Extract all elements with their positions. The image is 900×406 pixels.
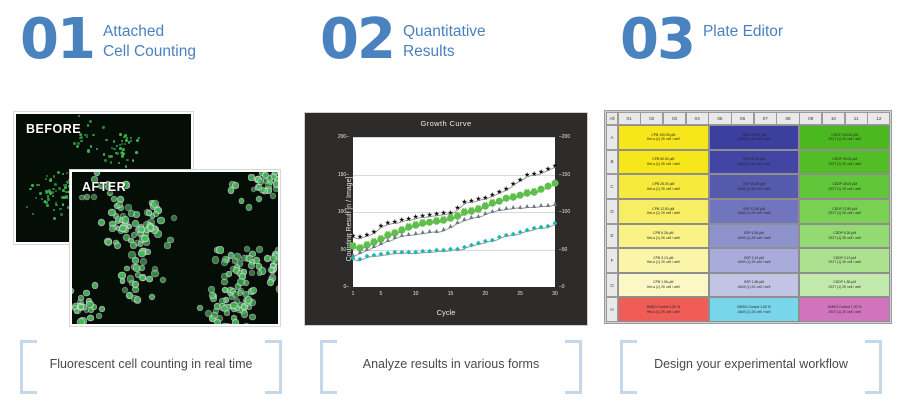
cell-dot	[258, 271, 262, 275]
cell-dot	[129, 211, 134, 216]
plate-row-header-A[interactable]: A	[606, 125, 618, 150]
cell-dot	[132, 160, 134, 162]
panel-1-caption-text: Fluorescent cell counting in real time	[32, 357, 271, 371]
cell-dot	[31, 184, 34, 187]
plate-row-header-D[interactable]: D	[606, 199, 618, 224]
well-cell-label: 293T (1) 2K cell / well	[828, 187, 861, 192]
cell-dot	[73, 142, 76, 145]
plate-row-header-B[interactable]: B	[606, 150, 618, 175]
panel-1-header: 01 Attached Cell Counting	[20, 14, 196, 66]
cell-dot	[222, 260, 228, 266]
plate-column-headers: All010203040506070809101112	[606, 112, 890, 125]
before-label: BEFORE	[26, 122, 81, 136]
cell-dot	[245, 247, 249, 251]
plate-well-group[interactable]: CDDP 100.00 µM293T (1) 2K cell / well	[799, 125, 890, 150]
cell-dot	[66, 172, 68, 174]
cell-dot	[198, 306, 202, 310]
cell-dot	[53, 217, 56, 220]
cell-dot	[233, 292, 239, 298]
cell-dot	[274, 181, 279, 186]
cell-dot	[128, 225, 132, 229]
cell-dot	[129, 239, 133, 243]
cell-dot	[130, 140, 132, 142]
cell-dot	[121, 143, 123, 145]
cell-dot	[235, 299, 239, 303]
cell-dot	[45, 178, 47, 180]
cell-dot	[102, 126, 105, 129]
panel-2-title: Quantitative Results	[403, 22, 486, 62]
cell-dot	[115, 243, 120, 248]
cell-dot	[62, 173, 64, 175]
cell-dot	[229, 253, 234, 258]
cell-dot	[227, 272, 231, 276]
cell-dot	[35, 197, 37, 199]
cell-dot	[231, 303, 236, 308]
cell-dot	[246, 297, 251, 302]
plate-row: DCPB 12.50 µMHeLa (1) 2K cell / wellSSP …	[606, 199, 890, 224]
cell-dot	[55, 190, 57, 192]
cell-dot	[250, 271, 254, 275]
panel-1-caption: Fluorescent cell counting in real time	[20, 340, 282, 388]
well-cell-label: HeLa (1) 2K cell / well	[647, 137, 680, 142]
plate-well-group[interactable]: SSP 12.50 µMA549 (1) 2K cell / well	[709, 199, 800, 224]
cell-dot	[249, 175, 253, 179]
cell-dot	[242, 305, 246, 309]
cell-dot	[55, 204, 58, 207]
cell-dot	[133, 258, 138, 263]
cell-dot	[276, 248, 280, 252]
panel-3-caption-text: Design your experimental workflow	[636, 357, 866, 371]
cell-dot	[95, 171, 100, 176]
well-cell-label: A549 (1) 2K cell / well	[738, 310, 771, 315]
well-cell-label: A549 (1) 2K cell / well	[738, 260, 771, 265]
chart-x-tick: 10	[413, 291, 419, 297]
cell-dot	[85, 309, 89, 313]
cell-dot	[238, 291, 242, 295]
well-cell-label: HeLa (1) 2K cell / well	[647, 187, 680, 192]
plate-column-header-09[interactable]: 09	[799, 112, 822, 125]
plate-row: BCPB 50.00 µMHeLa (1) 2K cell / wellSSP …	[606, 150, 890, 175]
chart-title: Growth Curve	[305, 119, 587, 128]
well-cell-label: HeLa (1) 2K cell / well	[647, 236, 680, 241]
cell-dot	[55, 202, 57, 204]
plate-column-header-10[interactable]: 10	[822, 112, 845, 125]
cell-dot	[165, 243, 169, 247]
cell-dot	[62, 204, 64, 206]
cell-dot	[52, 195, 54, 197]
cell-dot	[258, 179, 263, 184]
cell-dot	[104, 159, 107, 162]
chart-gridline	[353, 137, 555, 138]
cell-dot	[123, 288, 128, 293]
cell-dot	[79, 305, 83, 309]
cell-dot	[113, 148, 116, 151]
cell-dot	[58, 187, 61, 190]
plate-well-group[interactable]: CDDP 25.00 µM293T (1) 2K cell / well	[799, 174, 890, 199]
cell-dot	[41, 198, 43, 200]
plate-column-header-03[interactable]: 03	[663, 112, 686, 125]
plate-column-header-05[interactable]: 05	[708, 112, 731, 125]
cell-dot	[121, 279, 125, 283]
bracket-right-icon	[865, 340, 882, 394]
cell-dot	[217, 247, 222, 252]
cell-dot	[38, 184, 40, 186]
cell-dot	[50, 178, 52, 180]
well-cell-label: A549 (1) 2K cell / well	[738, 162, 771, 167]
cell-dot	[279, 252, 280, 257]
plate-row-header-C[interactable]: C	[606, 174, 618, 199]
well-cell-label: 293T (1) 2K cell / well	[828, 162, 861, 167]
cell-dot	[277, 286, 280, 291]
well-cell-label: 293T (1) 2K cell / well	[828, 211, 861, 216]
cell-dot	[32, 213, 34, 215]
cell-dot	[141, 259, 147, 265]
cell-dot	[100, 307, 104, 311]
panel-3-header: 03 Plate Editor	[620, 14, 783, 66]
cell-dot	[77, 142, 80, 145]
cell-dot	[220, 299, 225, 304]
cell-dot	[29, 188, 32, 191]
cell-dot	[120, 226, 126, 232]
chart-y-tick-right: –150	[559, 172, 570, 178]
panel-2-caption-text: Analyze results in various forms	[345, 357, 557, 371]
cell-dot	[249, 263, 254, 268]
plate-row: ACPB 100.00 µMHeLa (1) 2K cell / wellSSP…	[606, 125, 890, 150]
plate-well-group[interactable]: CDDP 12.50 µM293T (1) 2K cell / well	[799, 199, 890, 224]
cell-dot	[92, 195, 96, 199]
cell-dot	[53, 175, 56, 178]
cell-dot	[140, 276, 144, 280]
cell-dot	[252, 188, 256, 192]
cell-dot	[139, 251, 145, 257]
cell-dot	[75, 309, 79, 313]
cell-dot	[260, 188, 265, 193]
plate-well-group[interactable]: CPB 100.00 µMHeLa (1) 2K cell / well	[618, 125, 709, 150]
plate-well-group[interactable]: CDDP 50.00 µM293T (1) 2K cell / well	[799, 150, 890, 175]
cell-dot	[229, 188, 234, 193]
cell-dot	[136, 139, 139, 142]
chart-y-tick: 100–	[338, 209, 349, 215]
panel-plate-editor: 03 Plate Editor All010203040506070809101…	[600, 0, 900, 406]
cell-dot	[39, 192, 42, 195]
well-cell-label: HeLa (1) 2K cell / well	[647, 310, 680, 315]
cell-dot	[152, 271, 158, 277]
plate-well-group[interactable]: CPB 12.50 µMHeLa (1) 2K cell / well	[618, 199, 709, 224]
cell-dot	[92, 134, 95, 137]
plate-column-header-07[interactable]: 07	[754, 112, 777, 125]
cell-dot	[140, 266, 144, 270]
cell-dot	[110, 161, 113, 164]
cell-dot	[80, 196, 84, 200]
cell-dot	[85, 195, 90, 200]
cell-dot	[274, 187, 278, 191]
plate-row-header-E[interactable]: E	[606, 224, 618, 249]
well-cell-label: 293T (1) 2K cell / well	[828, 137, 861, 142]
cell-dot	[133, 287, 138, 292]
chart-y-tick: 200–	[338, 134, 349, 140]
cell-dot	[46, 204, 49, 207]
cell-dot	[150, 295, 155, 300]
well-cell-label: 293T (1) 2K cell / well	[828, 310, 861, 315]
cell-dot	[223, 288, 228, 293]
plate-well-group[interactable]: SSP 25.00 µMA549 (1) 2K cell / well	[709, 174, 800, 199]
cell-dot	[225, 324, 230, 326]
panel-1-number: 01	[20, 14, 94, 66]
cell-dot	[80, 140, 83, 143]
chart-plot-area: 0–50–100–150–200––0–50–100–150–200151015…	[353, 137, 555, 287]
cell-dot	[66, 197, 68, 199]
cell-dot	[209, 287, 214, 292]
microscopy-image-after: AFTER	[70, 170, 280, 326]
cell-dot	[257, 197, 262, 202]
well-cell-label: A549 (1) 2K cell / well	[738, 137, 771, 142]
well-cell-label: A549 (1) 2K cell / well	[738, 285, 771, 290]
cell-dot	[93, 283, 98, 288]
cell-dot	[125, 267, 129, 271]
cell-dot	[64, 186, 67, 189]
cell-dot	[124, 235, 129, 240]
plate-well-group[interactable]: DMSO Control 1.00 %293T (1) 2K cell / we…	[799, 297, 890, 322]
chart-y-tick-right: –100	[559, 209, 570, 215]
chart-y-tick: 0–	[343, 284, 349, 290]
cell-dot	[97, 314, 101, 318]
cell-dot	[103, 153, 106, 156]
cell-dot	[59, 208, 61, 210]
cell-dot	[26, 206, 28, 208]
cell-dot	[247, 205, 252, 210]
bracket-right-icon	[265, 340, 282, 394]
well-cell-label: HeLa (1) 2K cell / well	[647, 162, 680, 167]
cell-dot	[86, 136, 88, 138]
cell-dot	[78, 115, 80, 117]
cell-dot	[76, 145, 79, 148]
chart-x-tick: 15	[448, 291, 454, 297]
plate-well-group[interactable]: CPB 3.13 µMHeLa (1) 2K cell / well	[618, 248, 709, 273]
cell-dot	[118, 162, 120, 164]
cell-dot	[99, 220, 105, 226]
cell-dot	[271, 194, 276, 199]
plate-column-header-11[interactable]: 11	[845, 112, 868, 125]
chart-x-tick: 20	[483, 291, 489, 297]
cell-dot	[222, 280, 227, 285]
cell-dot	[135, 151, 138, 154]
panel-3-number: 03	[620, 14, 694, 66]
cell-dot	[65, 184, 67, 186]
plate-well-group[interactable]: SSP 3.13 µMA549 (1) 2K cell / well	[709, 248, 800, 273]
cell-dot	[235, 254, 240, 259]
plate-column-header-06[interactable]: 06	[731, 112, 754, 125]
plate-column-header-04[interactable]: 04	[686, 112, 709, 125]
plate-well-group[interactable]: SSP 1.56 µMA549 (1) 2K cell / well	[709, 273, 800, 298]
plate-well-group[interactable]: CPB 50.00 µMHeLa (1) 2K cell / well	[618, 150, 709, 175]
cell-dot	[112, 197, 116, 201]
cell-dot	[215, 304, 220, 309]
cell-dot	[139, 227, 144, 232]
cell-dot	[212, 313, 217, 318]
cell-dot	[129, 252, 135, 258]
cell-dot	[233, 183, 238, 188]
cell-dot	[134, 212, 139, 217]
bracket-left-icon	[320, 340, 337, 394]
cell-dot	[268, 280, 273, 285]
cell-dot	[139, 242, 143, 246]
cell-dot	[119, 273, 125, 279]
plate-well-group[interactable]: CDDP 1.56 µM293T (1) 2K cell / well	[799, 273, 890, 298]
chart-y-tick-right: –200	[559, 134, 570, 140]
cell-dot	[84, 291, 89, 296]
microscopy-images: BEFORE AFTER	[10, 112, 290, 324]
cell-dot	[233, 320, 238, 325]
cell-dot	[87, 302, 93, 308]
plate-row-header-H[interactable]: H	[606, 297, 618, 322]
cell-dot	[54, 183, 57, 186]
plate-well-group[interactable]: SSP 6.26 µMA549 (1) 2K cell / well	[709, 224, 800, 249]
cell-dot	[46, 191, 49, 194]
cell-dot	[272, 175, 276, 179]
cell-dot	[222, 324, 227, 326]
cell-dot	[134, 265, 140, 271]
chart-x-tick: 25	[517, 291, 523, 297]
cell-dot	[79, 296, 83, 300]
panel-2-header: 02 Quantitative Results	[320, 14, 486, 66]
cell-dot	[105, 139, 107, 141]
panel-3-caption: Design your experimental workflow	[620, 340, 882, 388]
cell-dot	[257, 247, 262, 252]
cell-dot	[125, 166, 127, 168]
cell-dot	[118, 197, 123, 202]
plate-well-group[interactable]: SSP 50.00 µMA549 (1) 2K cell / well	[709, 150, 800, 175]
plate-well-group[interactable]: DMSO Control 1.00 %A549 (1) 2K cell / we…	[709, 297, 800, 322]
cell-dot	[251, 288, 256, 293]
well-cell-label: 293T (1) 2K cell / well	[828, 260, 861, 265]
cell-dot	[240, 274, 245, 279]
cell-dot	[90, 145, 93, 148]
cell-dot	[106, 240, 111, 245]
chart-y-tick: 50–	[341, 247, 349, 253]
cell-dot	[147, 211, 151, 215]
plate-well-group[interactable]: CDDP 6.26 µM293T (1) 2K cell / well	[799, 224, 890, 249]
cell-dot	[124, 143, 126, 145]
cell-dot	[113, 140, 116, 143]
cell-dot	[126, 205, 131, 210]
plate-row: HDMSO Control 1.00 %HeLa (1) 2K cell / w…	[606, 297, 890, 322]
cell-dot	[172, 216, 176, 220]
cell-dot	[238, 279, 244, 285]
plate-well-group[interactable]: CPB 6.26 µMHeLa (1) 2K cell / well	[618, 224, 709, 249]
cell-dot	[242, 311, 248, 317]
cell-dot	[87, 149, 90, 152]
cell-dot	[240, 199, 244, 203]
cell-dot	[225, 311, 229, 315]
growth-curve-chart: Growth Curve Counting Result [n / Image]…	[304, 112, 588, 326]
panel-2-caption: Analyze results in various forms	[320, 340, 582, 388]
chart-y-tick-right: –0	[559, 284, 565, 290]
plate-row: FCPB 3.13 µMHeLa (1) 2K cell / wellSSP 3…	[606, 248, 890, 273]
cell-dot	[263, 173, 268, 178]
cell-dot	[131, 243, 136, 248]
cell-dot	[154, 212, 158, 216]
cell-dot	[110, 226, 115, 231]
cell-dot	[57, 171, 60, 174]
cell-dot	[152, 201, 158, 207]
well-cell-label: HeLa (1) 2K cell / well	[647, 211, 680, 216]
panel-3-title: Plate Editor	[703, 22, 783, 42]
plate-well-group[interactable]: SSP 100.00 µMA549 (1) 2K cell / well	[709, 125, 800, 150]
well-cell-label: HeLa (1) 2K cell / well	[647, 285, 680, 290]
plate-well-group[interactable]: CPB 1.56 µMHeLa (1) 2K cell / well	[618, 273, 709, 298]
chart-x-tick: 1	[352, 291, 355, 297]
chart-x-tick: 5	[380, 291, 383, 297]
cell-dot	[53, 209, 55, 211]
cell-dot	[47, 198, 50, 201]
plate-column-header-01[interactable]: 01	[618, 112, 641, 125]
plate-row-header-G[interactable]: G	[606, 273, 618, 298]
cell-dot	[146, 250, 150, 254]
panel-2-number: 02	[320, 14, 394, 66]
panel-1-title: Attached Cell Counting	[103, 22, 196, 62]
chart-x-axis-label: Cycle	[305, 308, 587, 317]
cell-dot	[238, 261, 243, 266]
cell-dot	[244, 324, 250, 326]
cell-dot	[147, 277, 152, 282]
cell-dot	[229, 325, 234, 326]
cell-dot	[78, 319, 84, 325]
panel-attached-cell-counting: 01 Attached Cell Counting BEFORE AFTER F…	[0, 0, 300, 406]
plate-well-group[interactable]: CDDP 3.13 µM293T (1) 2K cell / well	[799, 248, 890, 273]
chart-x-tick: 30	[552, 291, 558, 297]
plate-column-header-08[interactable]: 08	[776, 112, 799, 125]
cell-dot	[213, 257, 219, 263]
plate-column-header-02[interactable]: 02	[640, 112, 663, 125]
cell-dot	[88, 316, 93, 321]
well-cell-label: A549 (1) 2K cell / well	[738, 187, 771, 192]
well-cell-label: A549 (1) 2K cell / well	[738, 211, 771, 216]
chart-y-tick: 150–	[338, 172, 349, 178]
plate-editor-grid[interactable]: All010203040506070809101112 ACPB 100.00 …	[604, 110, 892, 324]
plate-well-group[interactable]: DMSO Control 1.00 %HeLa (1) 2K cell / we…	[618, 297, 709, 322]
plate-rows: ACPB 100.00 µMHeLa (1) 2K cell / wellSSP…	[606, 125, 890, 322]
cell-dot	[122, 148, 125, 151]
cell-dot	[158, 218, 163, 223]
well-cell-label: 293T (1) 2K cell / well	[828, 285, 861, 290]
cell-dot	[121, 140, 123, 142]
plate-row: ECPB 6.26 µMHeLa (1) 2K cell / wellSSP 6…	[606, 224, 890, 249]
plate-row: CCPB 25.00 µMHeLa (1) 2K cell / wellSSP …	[606, 174, 890, 199]
cell-dot	[133, 282, 138, 287]
cell-dot	[168, 238, 172, 242]
cell-dot	[215, 320, 220, 325]
bracket-left-icon	[620, 340, 637, 394]
cell-dot	[87, 124, 89, 126]
cell-dot	[130, 137, 132, 139]
cell-dot	[96, 148, 99, 151]
plate-well-group[interactable]: CPB 25.00 µMHeLa (1) 2K cell / well	[618, 174, 709, 199]
plate-row-header-F[interactable]: F	[606, 248, 618, 273]
cell-dot	[51, 191, 54, 194]
cell-dot	[132, 233, 136, 237]
plate-row: GCPB 1.56 µMHeLa (1) 2K cell / wellSSP 1…	[606, 273, 890, 298]
plate-column-header-12[interactable]: 12	[867, 112, 890, 125]
cell-dot	[70, 289, 73, 293]
cell-dot	[244, 292, 248, 296]
cell-dot	[46, 175, 48, 177]
well-cell-label: A549 (1) 2K cell / well	[738, 236, 771, 241]
cell-dot	[257, 185, 261, 189]
plate-corner-header[interactable]: All	[606, 112, 618, 125]
bracket-right-icon	[565, 340, 582, 394]
cell-dot	[52, 188, 55, 191]
cell-dot	[210, 293, 215, 298]
